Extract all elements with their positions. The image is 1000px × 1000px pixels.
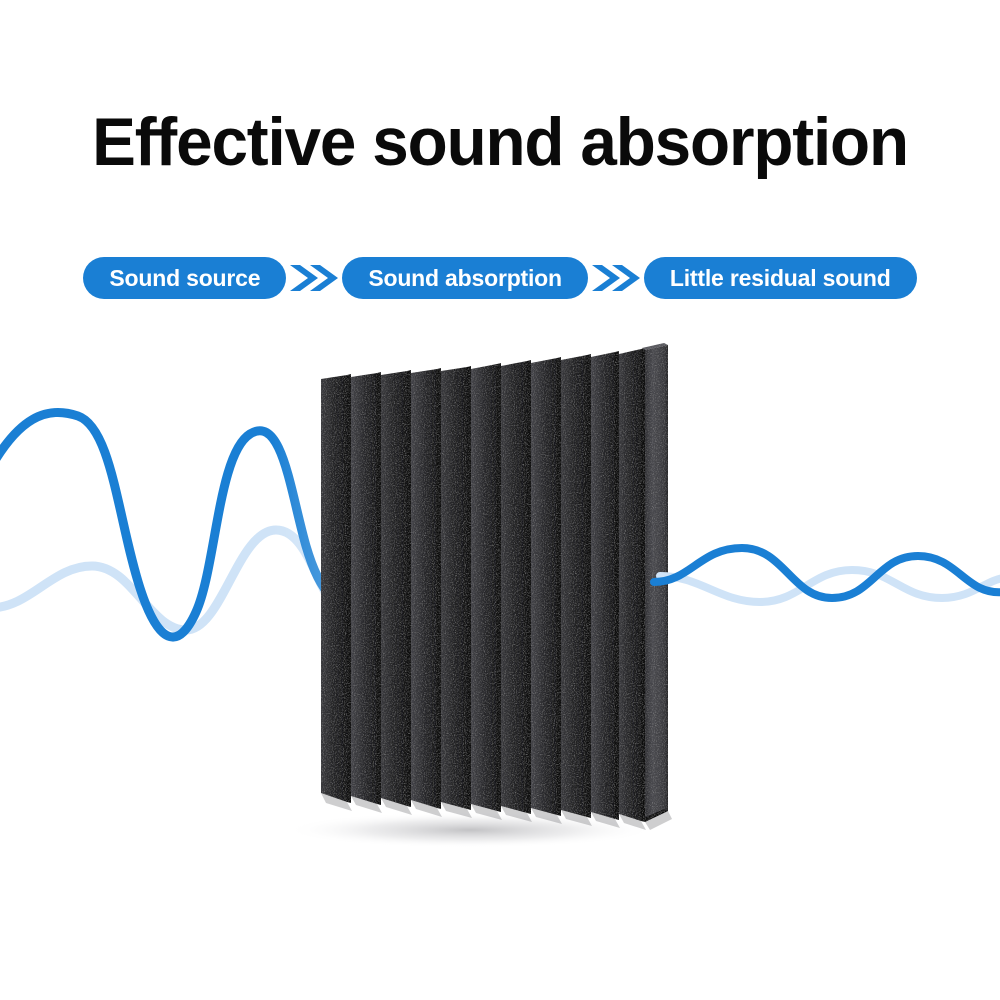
badge-label: Little residual sound <box>670 265 891 292</box>
double-chevron-right-icon-1 <box>286 261 342 295</box>
process-flow-row: Sound source Sound absorption Little res… <box>0 255 1000 301</box>
badge-sound-absorption[interactable]: Sound absorption <box>342 257 588 299</box>
foam-panel <box>285 343 672 848</box>
badge-little-residual-sound[interactable]: Little residual sound <box>644 257 917 299</box>
badge-label: Sound absorption <box>368 265 562 292</box>
page-title: Effective sound absorption <box>18 104 983 180</box>
residual-sound-waves <box>654 548 1000 602</box>
badge-label: Sound source <box>109 265 260 292</box>
acoustic-foam-illustration <box>0 330 1000 930</box>
badge-sound-source[interactable]: Sound source <box>83 257 286 299</box>
double-chevron-right-icon-2 <box>588 261 644 295</box>
marketing-image-canvas: Effective sound absorption Sound source … <box>0 0 1000 1000</box>
